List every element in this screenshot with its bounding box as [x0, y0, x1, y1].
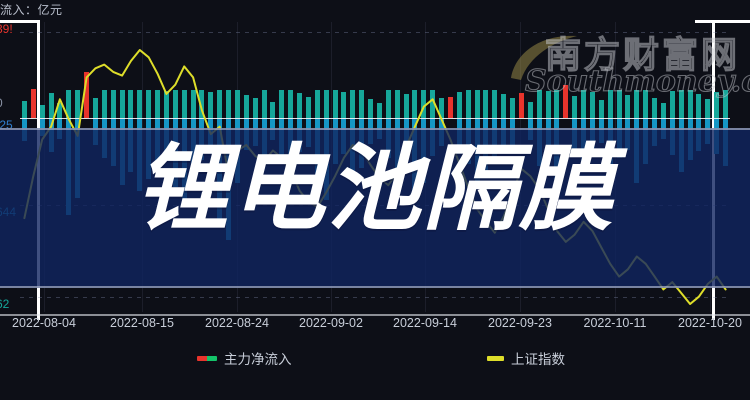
- x-axis-tick-label: 2022-09-02: [299, 316, 363, 330]
- legend-item[interactable]: 主力净流入: [197, 348, 292, 368]
- y-axis-unit-caption: 流入：亿元: [0, 1, 63, 18]
- x-axis-tick-label: 2022-08-15: [110, 316, 174, 330]
- x-axis-tick-label: 2022-08-24: [205, 316, 269, 330]
- x-axis-tick-label: 2022-10-20: [678, 316, 742, 330]
- title-band-bottom-rule: [0, 286, 750, 288]
- x-axis-tick-label: 2022-10-11: [583, 316, 646, 330]
- y-axis-tick-label: 39!: [0, 22, 13, 36]
- page-title: 锂电池隔膜: [0, 139, 750, 241]
- legend-item[interactable]: 上证指数: [487, 348, 565, 368]
- legend-swatch-icon: [197, 356, 217, 361]
- x-axis-tick-label: 2022-08-04: [12, 316, 76, 330]
- x-axis-tick-label: 2022-09-14: [393, 316, 457, 330]
- chart-screenshot: 流入：亿元 39!0.2564462 2022-08-042022-08-152…: [0, 0, 750, 400]
- x-axis-labels: 2022-08-042022-08-152022-08-242022-09-02…: [0, 316, 750, 338]
- x-axis-tick-label: 2022-09-23: [488, 316, 552, 330]
- legend-label: 上证指数: [511, 348, 565, 368]
- title-band-top-rule: [0, 128, 750, 130]
- y-axis-tick-label: 62: [0, 297, 9, 311]
- legend-swatch-icon: [487, 356, 504, 361]
- chart-legend: 主力净流入上证指数: [0, 348, 750, 372]
- y-axis-tick-label: 0: [0, 96, 3, 110]
- legend-label: 主力净流入: [224, 348, 292, 368]
